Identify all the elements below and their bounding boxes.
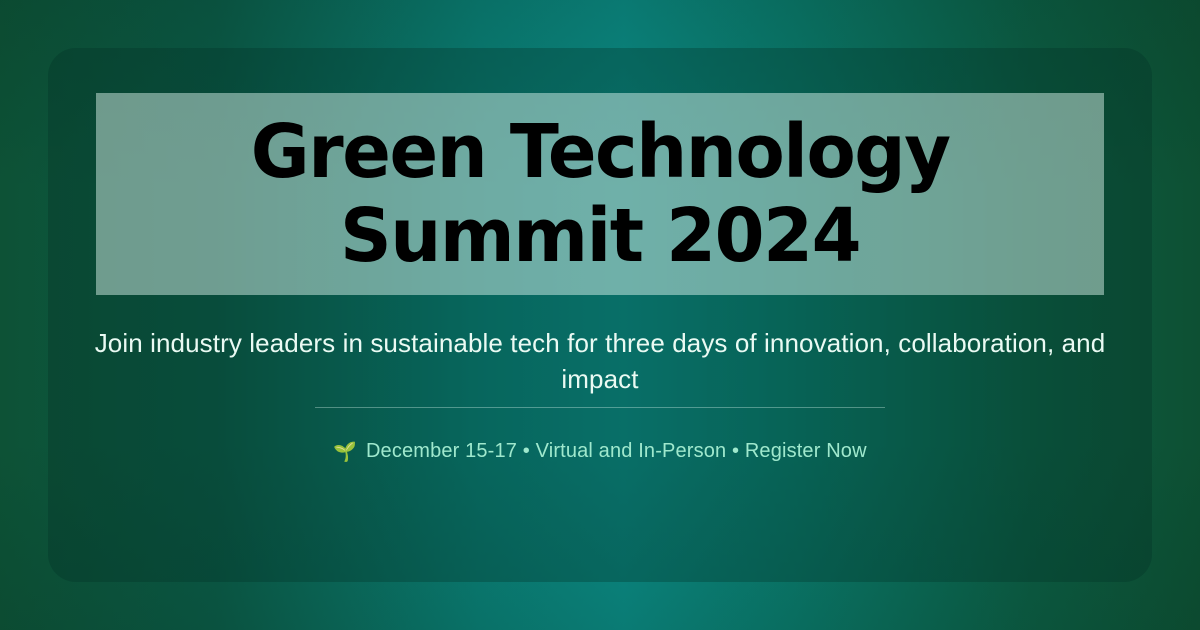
- event-meta-row: 🌱 December 15-17 • Virtual and In-Person…: [48, 435, 1152, 467]
- poster-canvas: Green Technology Summit 2024 Join indust…: [0, 0, 1200, 630]
- event-meta-text[interactable]: December 15-17 • Virtual and In-Person •…: [366, 437, 867, 465]
- page-subtitle: Join industry leaders in sustainable tec…: [48, 325, 1152, 397]
- title-band: Green Technology Summit 2024: [96, 93, 1104, 295]
- divider: [315, 407, 885, 408]
- seedling-icon: 🌱: [333, 443, 357, 462]
- page-title-line-2: Summit 2024: [340, 194, 860, 278]
- page-title-line-1: Green Technology: [251, 110, 950, 194]
- content-card: Green Technology Summit 2024 Join indust…: [48, 48, 1152, 582]
